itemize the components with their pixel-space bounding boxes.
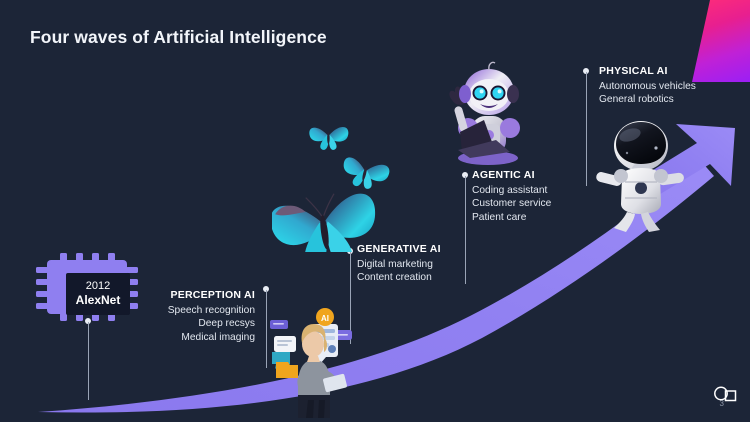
wave-item: Deep recsys bbox=[168, 317, 255, 330]
wave-item: Autonomous vehicles bbox=[599, 80, 696, 93]
wave-item: Digital marketing bbox=[357, 258, 441, 271]
alexnet-name: AlexNet bbox=[76, 293, 121, 307]
wave-item: Speech recognition bbox=[168, 304, 255, 317]
wave-label-physical: PHYSICAL AI Autonomous vehicles General … bbox=[599, 65, 696, 107]
connector-line bbox=[465, 176, 466, 284]
wave-title-generative: GENERATIVE AI bbox=[357, 243, 441, 257]
person-with-tablet-artwork: AI bbox=[268, 296, 354, 422]
wave-item: Content creation bbox=[357, 271, 441, 284]
wave-title-agentic: AGENTIC AI bbox=[472, 169, 551, 183]
circle-square-logo-icon bbox=[710, 385, 740, 403]
alexnet-chip: 2012 AlexNet bbox=[36, 253, 138, 321]
connector-line bbox=[88, 322, 89, 400]
connector-line bbox=[586, 72, 587, 186]
wave-title-perception: PERCEPTION AI bbox=[168, 289, 255, 303]
wave-label-agentic: AGENTIC AI Coding assistant Customer ser… bbox=[472, 169, 551, 224]
butterflies-artwork bbox=[272, 112, 392, 252]
wave-label-generative: GENERATIVE AI Digital marketing Content … bbox=[357, 243, 441, 285]
page-title: Four waves of Artificial Intelligence bbox=[30, 27, 327, 48]
slide-canvas: 2012 AlexNet bbox=[0, 0, 750, 422]
chip-core: 2012 AlexNet bbox=[66, 273, 130, 315]
alexnet-year: 2012 bbox=[86, 280, 110, 293]
wave-item: General robotics bbox=[599, 93, 696, 106]
wave-item: Patient care bbox=[472, 211, 551, 224]
wave-item: Coding assistant bbox=[472, 184, 551, 197]
wave-item: Customer service bbox=[472, 197, 551, 210]
wave-label-perception: PERCEPTION AI Speech recognition Deep re… bbox=[168, 289, 255, 344]
wave-title-physical: PHYSICAL AI bbox=[599, 65, 696, 79]
robot-artwork bbox=[440, 54, 532, 166]
connector-line bbox=[266, 290, 267, 368]
chip-body: 2012 AlexNet bbox=[47, 260, 127, 314]
wave-item: Medical imaging bbox=[168, 331, 255, 344]
humanoid-robot-artwork bbox=[594, 112, 686, 232]
svg-text:AI: AI bbox=[321, 314, 329, 323]
